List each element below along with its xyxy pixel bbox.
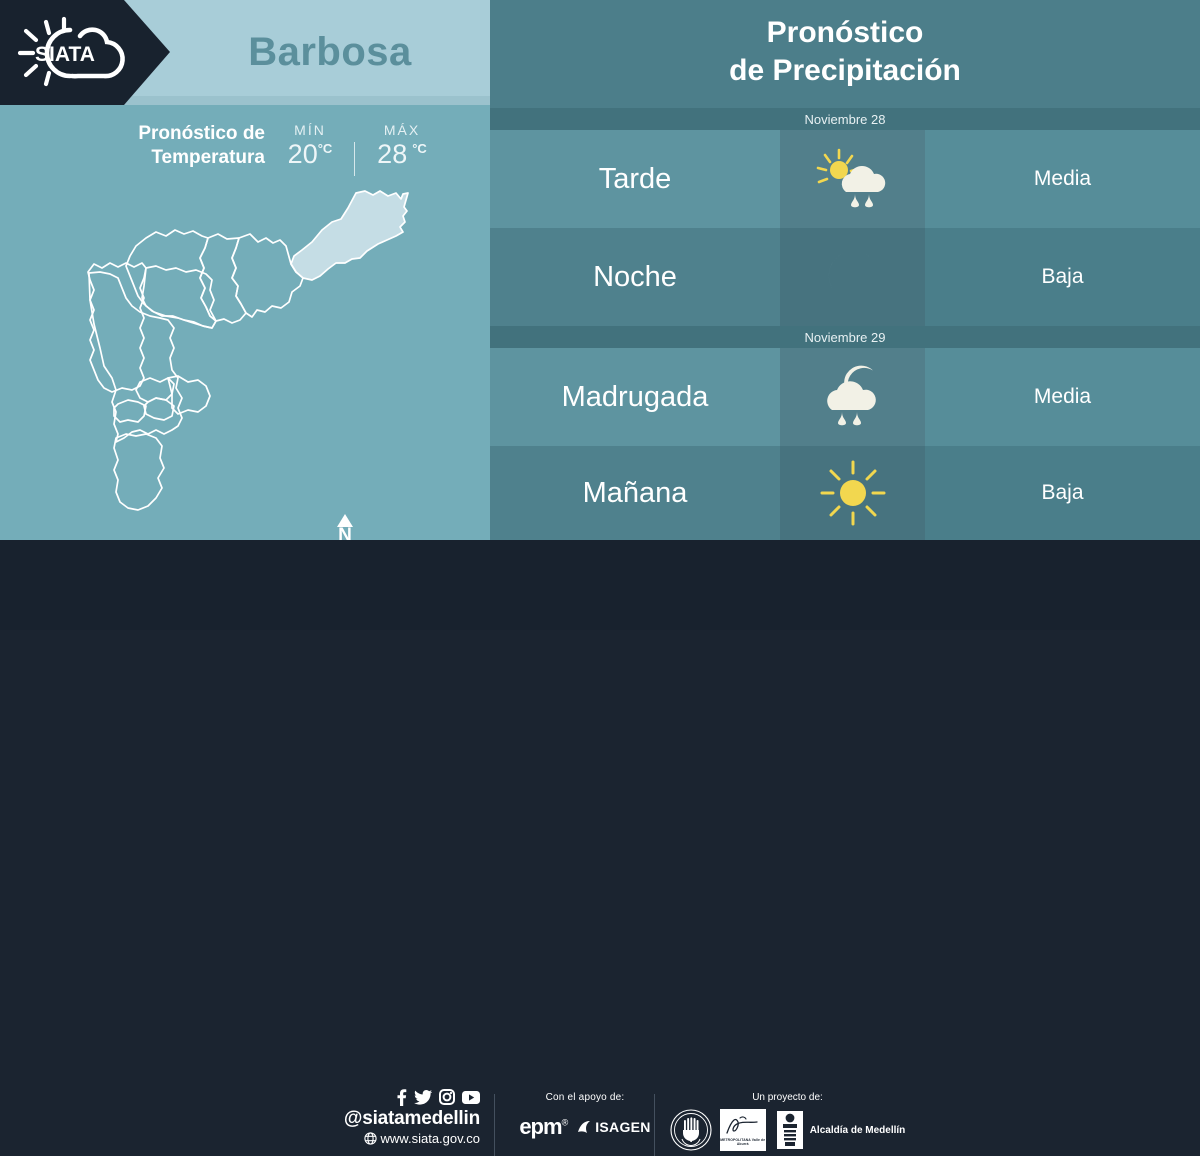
support-block: Con el apoyo de: epm® ISAGEN	[505, 1092, 665, 1140]
date-header-1: Noviembre 28	[490, 108, 1200, 130]
alcaldia-crest-icon	[774, 1109, 806, 1151]
project-caption: Un proyecto de:	[665, 1092, 910, 1103]
period-label: Mañana	[583, 477, 688, 510]
map-region-bello	[126, 230, 216, 328]
map-svg	[60, 180, 460, 540]
map-region-sabaneta	[144, 398, 174, 420]
cloud-shape	[841, 166, 884, 192]
probability-cell: Baja	[925, 446, 1200, 540]
moon-icon	[822, 247, 884, 307]
raindrop	[853, 412, 861, 425]
weather-icon-cell	[780, 130, 925, 228]
raindrop	[851, 194, 859, 207]
support-caption: Con el apoyo de:	[505, 1092, 665, 1103]
probability-label: Media	[1034, 385, 1091, 409]
probability-cell: Media	[925, 130, 1200, 228]
temperature-divider	[354, 142, 355, 176]
epm-logo-mark: ®	[562, 1118, 568, 1128]
period-label: Tarde	[599, 163, 672, 196]
map-region-caldas	[114, 434, 164, 510]
support-logos: epm® ISAGEN	[505, 1114, 665, 1140]
map-region-barbosa	[291, 191, 408, 280]
temperature-title: Pronóstico de Temperatura	[60, 122, 265, 170]
epm-logo[interactable]: epm®	[519, 1114, 567, 1140]
temperature-block: Pronóstico de Temperatura MÍN 20°C MÁX 2…	[60, 122, 440, 184]
website-text: www.siata.gov.co	[381, 1130, 480, 1147]
right-panel: Pronóstico de Precipitación Noviembre 28…	[490, 0, 1200, 540]
unal-seal-logo[interactable]	[670, 1109, 712, 1151]
map-region-medellin-north	[142, 266, 216, 328]
footer: @siatamedellin www.siata.gov.co Con el a…	[0, 540, 1200, 630]
globe-icon	[364, 1132, 377, 1145]
probability-label: Media	[1034, 167, 1091, 191]
temperature-max-value: 28	[377, 139, 407, 169]
map-region-la-estrella	[114, 400, 146, 422]
temperature-values: MÍN 20°C MÁX 28°C	[278, 122, 437, 176]
precipitation-title-line2: de Precipitación	[490, 52, 1200, 90]
twitter-icon[interactable]	[414, 1090, 432, 1105]
youtube-icon[interactable]	[462, 1091, 480, 1104]
epm-logo-text: epm	[519, 1114, 561, 1139]
social-handle[interactable]: @siatamedellin	[330, 1107, 480, 1130]
probability-label: Baja	[1041, 265, 1083, 289]
left-panel: SIATA Barbosa Pronóstico de Temperatura …	[0, 0, 490, 540]
isagen-logo-text: ISAGEN	[595, 1119, 650, 1135]
temperature-title-line2: Temperatura	[151, 147, 265, 168]
period-cell: Mañana	[490, 446, 780, 540]
social-block: @siatamedellin www.siata.gov.co	[330, 1088, 480, 1147]
temperature-min: MÍN 20°C	[278, 122, 342, 170]
sun-icon	[820, 460, 886, 526]
aburra-valley-map[interactable]: N	[60, 180, 460, 540]
area-metropolitana-logo[interactable]: METROPOLITANA Valle de Aburrá	[720, 1109, 766, 1151]
period-cell: Madrugada	[490, 348, 780, 446]
social-icons	[330, 1088, 480, 1106]
area-metropolitana-subtext: METROPOLITANA Valle de Aburrá	[720, 1138, 766, 1147]
facebook-icon[interactable]	[396, 1089, 407, 1106]
weather-icon-cell	[780, 228, 925, 326]
crescent-shape	[823, 247, 870, 300]
map-region-girardota	[232, 234, 303, 317]
probability-label: Baja	[1041, 481, 1083, 505]
website[interactable]: www.siata.gov.co	[330, 1130, 480, 1147]
temperature-max-label: MÁX	[367, 122, 437, 138]
period-cell: Tarde	[490, 130, 780, 228]
period-cell: Noche	[490, 228, 780, 326]
period-label: Noche	[593, 261, 677, 294]
city-name: Barbosa	[170, 0, 490, 105]
forecast-row-noche[interactable]: Noche Baja	[490, 228, 1200, 326]
raindrop	[865, 194, 873, 207]
footer-divider-1	[494, 1094, 495, 1156]
moon-cloud-rain-icon	[814, 365, 892, 429]
temperature-max-unit: °C	[412, 141, 427, 156]
map-region-medellin	[88, 263, 146, 392]
weather-icon-cell	[780, 446, 925, 540]
date-header-2: Noviembre 29	[490, 326, 1200, 348]
map-region-medellin-body	[89, 272, 182, 442]
precipitation-title-line1: Pronóstico	[490, 14, 1200, 52]
temperature-min-value: 20	[288, 139, 318, 169]
temperature-min-label: MÍN	[278, 122, 342, 138]
project-logos: METROPOLITANA Valle de Aburrá	[665, 1109, 910, 1151]
weather-forecast-graphic: SIATA Barbosa Pronóstico de Temperatura …	[0, 0, 1200, 630]
alcaldia-medellin-logo[interactable]: Alcaldía de Medellín	[774, 1109, 906, 1151]
precipitation-title: Pronóstico de Precipitación	[490, 14, 1200, 90]
temperature-title-line1: Pronóstico de	[138, 123, 265, 144]
temperature-max: MÁX 28°C	[367, 122, 437, 170]
cloud-shape	[827, 381, 876, 410]
isagen-mark-icon	[577, 1120, 592, 1134]
raindrop	[838, 412, 846, 425]
temperature-max-value-group: 28°C	[367, 139, 437, 170]
alcaldia-medellin-text: Alcaldía de Medellín	[810, 1125, 906, 1136]
period-label: Madrugada	[562, 381, 709, 414]
sun-disc	[840, 480, 866, 506]
area-script-mark	[723, 1114, 763, 1138]
project-block: Un proyecto de:	[665, 1092, 910, 1151]
footer-divider-2	[654, 1094, 655, 1156]
forecast-row-madrugada[interactable]: Madrugada Media	[490, 348, 1200, 446]
temperature-min-value-group: 20°C	[278, 139, 342, 170]
isagen-logo[interactable]: ISAGEN	[577, 1119, 650, 1135]
forecast-row-manana[interactable]: Mañana Ba	[490, 446, 1200, 540]
probability-cell: Baja	[925, 228, 1200, 326]
instagram-icon[interactable]	[439, 1089, 455, 1105]
forecast-row-tarde[interactable]: Tarde	[490, 130, 1200, 228]
siata-logo-text: SIATA	[35, 43, 95, 66]
sun-cloud-rain-icon	[814, 148, 892, 210]
probability-cell: Media	[925, 348, 1200, 446]
temperature-min-unit: °C	[318, 141, 333, 156]
weather-icon-cell	[780, 348, 925, 446]
sun-cloud-icon: SIATA	[8, 14, 134, 92]
